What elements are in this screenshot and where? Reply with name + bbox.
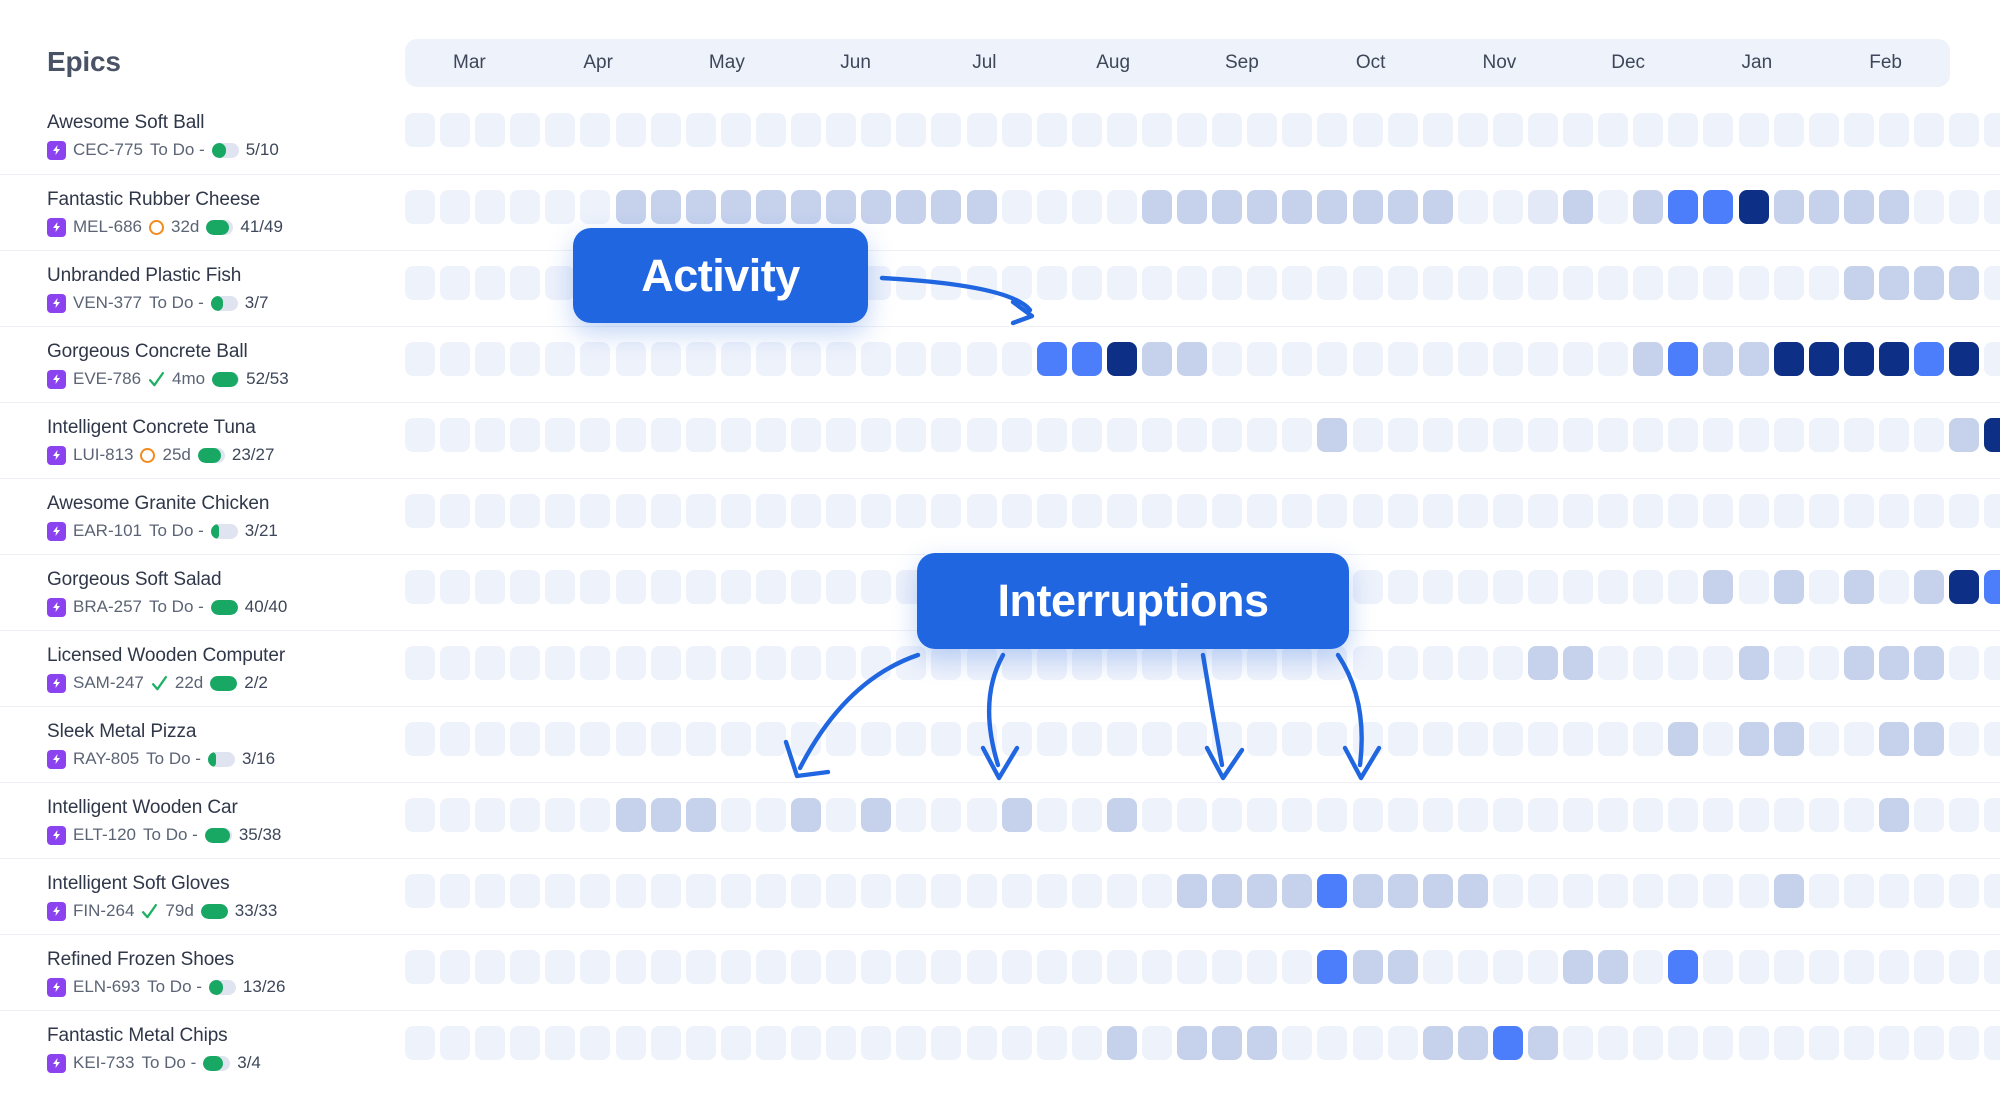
- heatmap-cell[interactable]: [1282, 722, 1312, 756]
- heatmap-cell[interactable]: [861, 418, 891, 452]
- heatmap-cell[interactable]: [1844, 342, 1874, 376]
- heatmap-cell[interactable]: [1247, 646, 1277, 680]
- heatmap-cell[interactable]: [1493, 874, 1523, 908]
- heatmap-cell[interactable]: [1353, 874, 1383, 908]
- heatmap-cell[interactable]: [1809, 1026, 1839, 1060]
- epic-row[interactable]: Unbranded Plastic FishVEN-377To Do -3/7: [0, 250, 404, 326]
- heatmap-cell[interactable]: [896, 266, 926, 300]
- heatmap-cell[interactable]: [405, 342, 435, 376]
- heatmap-cell[interactable]: [1353, 646, 1383, 680]
- epic-row[interactable]: Awesome Granite ChickenEAR-101To Do -3/2…: [0, 478, 404, 554]
- heatmap-cell[interactable]: [1984, 874, 2000, 908]
- heatmap-cell[interactable]: [1037, 494, 1067, 528]
- heatmap-cell[interactable]: [756, 874, 786, 908]
- heatmap-cell[interactable]: [405, 1026, 435, 1060]
- heatmap-cell[interactable]: [1107, 950, 1137, 984]
- heatmap-cell[interactable]: [1353, 494, 1383, 528]
- heatmap-cell[interactable]: [1598, 190, 1628, 224]
- heatmap-cell[interactable]: [1528, 113, 1558, 147]
- heatmap-cell[interactable]: [1423, 342, 1453, 376]
- heatmap-cell[interactable]: [1879, 494, 1909, 528]
- heatmap-cell[interactable]: [1142, 266, 1172, 300]
- heatmap-cell[interactable]: [1142, 418, 1172, 452]
- heatmap-cell[interactable]: [1317, 874, 1347, 908]
- heatmap-cell[interactable]: [1282, 1026, 1312, 1060]
- heatmap-cell[interactable]: [651, 190, 681, 224]
- heatmap-cell[interactable]: [826, 1026, 856, 1060]
- heatmap-cell[interactable]: [651, 798, 681, 832]
- heatmap-cell[interactable]: [756, 950, 786, 984]
- heatmap-cell[interactable]: [1212, 874, 1242, 908]
- heatmap-cell[interactable]: [1177, 418, 1207, 452]
- heatmap-cell[interactable]: [616, 342, 646, 376]
- heatmap-cell[interactable]: [1282, 874, 1312, 908]
- heatmap-cell[interactable]: [1949, 418, 1979, 452]
- heatmap-cell[interactable]: [1388, 1026, 1418, 1060]
- heatmap-cell[interactable]: [1668, 570, 1698, 604]
- heatmap-cell[interactable]: [1247, 722, 1277, 756]
- heatmap-cell[interactable]: [931, 190, 961, 224]
- heatmap-cell[interactable]: [405, 266, 435, 300]
- heatmap-cell[interactable]: [861, 798, 891, 832]
- heatmap-cell[interactable]: [1774, 342, 1804, 376]
- heatmap-cell[interactable]: [1598, 722, 1628, 756]
- heatmap-cell[interactable]: [1949, 646, 1979, 680]
- heatmap-cell[interactable]: [510, 494, 540, 528]
- heatmap-cell[interactable]: [1317, 190, 1347, 224]
- heatmap-cell[interactable]: [1212, 113, 1242, 147]
- heatmap-cell[interactable]: [1212, 722, 1242, 756]
- heatmap-cell[interactable]: [1177, 494, 1207, 528]
- epic-name[interactable]: Intelligent Concrete Tuna: [47, 415, 404, 441]
- heatmap-cell[interactable]: [1317, 722, 1347, 756]
- heatmap-cell[interactable]: [721, 950, 751, 984]
- heatmap-cell[interactable]: [1107, 646, 1137, 680]
- heatmap-cell[interactable]: [1423, 418, 1453, 452]
- heatmap-cell[interactable]: [545, 722, 575, 756]
- heatmap-cell[interactable]: [1598, 113, 1628, 147]
- heatmap-cell[interactable]: [1282, 950, 1312, 984]
- heatmap-cell[interactable]: [791, 874, 821, 908]
- heatmap-cell[interactable]: [1212, 950, 1242, 984]
- heatmap-cell[interactable]: [1703, 190, 1733, 224]
- heatmap-cell[interactable]: [1458, 950, 1488, 984]
- heatmap-cell[interactable]: [1633, 646, 1663, 680]
- heatmap-cell[interactable]: [1598, 418, 1628, 452]
- heatmap-cell[interactable]: [1142, 494, 1172, 528]
- heatmap-cell[interactable]: [861, 190, 891, 224]
- heatmap-cell[interactable]: [1984, 798, 2000, 832]
- heatmap-cell[interactable]: [475, 266, 505, 300]
- heatmap-cell[interactable]: [651, 494, 681, 528]
- heatmap-cell[interactable]: [440, 342, 470, 376]
- heatmap-cell[interactable]: [651, 342, 681, 376]
- heatmap-cell[interactable]: [1984, 950, 2000, 984]
- heatmap-cell[interactable]: [826, 874, 856, 908]
- heatmap-cell[interactable]: [1142, 646, 1172, 680]
- heatmap-cell[interactable]: [1317, 266, 1347, 300]
- heatmap-cell[interactable]: [1703, 646, 1733, 680]
- heatmap-cell[interactable]: [475, 570, 505, 604]
- heatmap-cell[interactable]: [1844, 646, 1874, 680]
- heatmap-cell[interactable]: [1317, 113, 1347, 147]
- heatmap-cell[interactable]: [405, 950, 435, 984]
- heatmap-cell[interactable]: [1037, 342, 1067, 376]
- heatmap-cell[interactable]: [1879, 646, 1909, 680]
- heatmap-cell[interactable]: [1914, 874, 1944, 908]
- heatmap-cell[interactable]: [1703, 950, 1733, 984]
- heatmap-cell[interactable]: [1774, 874, 1804, 908]
- heatmap-cell[interactable]: [791, 113, 821, 147]
- heatmap-cell[interactable]: [1072, 950, 1102, 984]
- heatmap-cell[interactable]: [1072, 113, 1102, 147]
- heatmap-cell[interactable]: [1633, 113, 1663, 147]
- heatmap-cell[interactable]: [1177, 722, 1207, 756]
- heatmap-cell[interactable]: [1177, 798, 1207, 832]
- heatmap-cell[interactable]: [896, 1026, 926, 1060]
- heatmap-cell[interactable]: [1002, 266, 1032, 300]
- heatmap-cell[interactable]: [686, 494, 716, 528]
- heatmap-cell[interactable]: [1493, 418, 1523, 452]
- heatmap-cell[interactable]: [1493, 342, 1523, 376]
- epic-row[interactable]: Gorgeous Soft SaladBRA-257To Do -40/40: [0, 554, 404, 630]
- heatmap-cell[interactable]: [1809, 646, 1839, 680]
- epic-row[interactable]: Fantastic Rubber CheeseMEL-68632d41/49: [0, 174, 404, 250]
- heatmap-cell[interactable]: [1177, 266, 1207, 300]
- epic-row[interactable]: Intelligent Concrete TunaLUI-81325d23/27: [0, 402, 404, 478]
- heatmap-cell[interactable]: [1739, 190, 1769, 224]
- heatmap-cell[interactable]: [1633, 266, 1663, 300]
- heatmap-cell[interactable]: [440, 570, 470, 604]
- epic-key[interactable]: KEI-733: [73, 1052, 134, 1074]
- heatmap-cell[interactable]: [896, 418, 926, 452]
- heatmap-cell[interactable]: [475, 190, 505, 224]
- heatmap-cell[interactable]: [1282, 646, 1312, 680]
- heatmap-cell[interactable]: [1002, 874, 1032, 908]
- heatmap-cell[interactable]: [1844, 570, 1874, 604]
- epic-row[interactable]: Licensed Wooden ComputerSAM-24722d2/2: [0, 630, 404, 706]
- heatmap-cell[interactable]: [580, 342, 610, 376]
- heatmap-cell[interactable]: [1002, 113, 1032, 147]
- heatmap-cell[interactable]: [1879, 266, 1909, 300]
- heatmap-cell[interactable]: [1388, 874, 1418, 908]
- epic-row[interactable]: Refined Frozen ShoesELN-693To Do -13/26: [0, 934, 404, 1010]
- heatmap-cell[interactable]: [580, 113, 610, 147]
- heatmap-cell[interactable]: [510, 798, 540, 832]
- heatmap-cell[interactable]: [545, 646, 575, 680]
- heatmap-cell[interactable]: [1914, 570, 1944, 604]
- heatmap-cell[interactable]: [896, 874, 926, 908]
- heatmap-cell[interactable]: [1388, 798, 1418, 832]
- heatmap-cell[interactable]: [826, 342, 856, 376]
- heatmap-cell[interactable]: [686, 646, 716, 680]
- heatmap-cell[interactable]: [686, 342, 716, 376]
- heatmap-cell[interactable]: [967, 113, 997, 147]
- heatmap-cell[interactable]: [1809, 342, 1839, 376]
- heatmap-cell[interactable]: [1493, 113, 1523, 147]
- heatmap-cell[interactable]: [1037, 1026, 1067, 1060]
- heatmap-cell[interactable]: [931, 113, 961, 147]
- heatmap-cell[interactable]: [1493, 190, 1523, 224]
- heatmap-cell[interactable]: [1072, 874, 1102, 908]
- heatmap-cell[interactable]: [651, 113, 681, 147]
- heatmap-cell[interactable]: [1774, 570, 1804, 604]
- heatmap-cell[interactable]: [1493, 266, 1523, 300]
- heatmap-cell[interactable]: [1317, 798, 1347, 832]
- heatmap-cell[interactable]: [1598, 266, 1628, 300]
- heatmap-cell[interactable]: [1423, 950, 1453, 984]
- heatmap-cell[interactable]: [440, 113, 470, 147]
- heatmap-cell[interactable]: [1353, 113, 1383, 147]
- heatmap-cell[interactable]: [510, 190, 540, 224]
- heatmap-cell[interactable]: [1633, 1026, 1663, 1060]
- heatmap-cell[interactable]: [1879, 798, 1909, 832]
- heatmap-cell[interactable]: [1107, 266, 1137, 300]
- epic-row[interactable]: Intelligent Wooden CarELT-120To Do -35/3…: [0, 782, 404, 858]
- heatmap-cell[interactable]: [1458, 874, 1488, 908]
- heatmap-cell[interactable]: [756, 570, 786, 604]
- heatmap-cell[interactable]: [545, 874, 575, 908]
- heatmap-cell[interactable]: [1914, 722, 1944, 756]
- heatmap-cell[interactable]: [1528, 722, 1558, 756]
- heatmap-cell[interactable]: [1072, 342, 1102, 376]
- heatmap-cell[interactable]: [475, 722, 505, 756]
- heatmap-cell[interactable]: [1703, 570, 1733, 604]
- heatmap-cell[interactable]: [1072, 722, 1102, 756]
- heatmap-cell[interactable]: [1247, 113, 1277, 147]
- heatmap-cell[interactable]: [1177, 950, 1207, 984]
- heatmap-cell[interactable]: [861, 494, 891, 528]
- heatmap-cell[interactable]: [1739, 1026, 1769, 1060]
- heatmap-cell[interactable]: [405, 570, 435, 604]
- heatmap-cell[interactable]: [1282, 342, 1312, 376]
- heatmap-cell[interactable]: [440, 494, 470, 528]
- heatmap-cell[interactable]: [510, 342, 540, 376]
- heatmap-cell[interactable]: [580, 646, 610, 680]
- heatmap-cell[interactable]: [580, 1026, 610, 1060]
- heatmap-cell[interactable]: [931, 494, 961, 528]
- heatmap-cell[interactable]: [1458, 190, 1488, 224]
- heatmap-cell[interactable]: [1142, 798, 1172, 832]
- heatmap-cell[interactable]: [1598, 798, 1628, 832]
- heatmap-cell[interactable]: [967, 874, 997, 908]
- heatmap-cell[interactable]: [686, 722, 716, 756]
- heatmap-cell[interactable]: [1353, 1026, 1383, 1060]
- heatmap-cell[interactable]: [1458, 798, 1488, 832]
- heatmap-cell[interactable]: [440, 874, 470, 908]
- heatmap-cell[interactable]: [931, 266, 961, 300]
- heatmap-cell[interactable]: [756, 113, 786, 147]
- epic-row[interactable]: Sleek Metal PizzaRAY-805To Do -3/16: [0, 706, 404, 782]
- heatmap-cell[interactable]: [1844, 950, 1874, 984]
- heatmap-cell[interactable]: [1914, 342, 1944, 376]
- heatmap-cell[interactable]: [1563, 1026, 1593, 1060]
- heatmap-cell[interactable]: [1984, 1026, 2000, 1060]
- heatmap-cell[interactable]: [405, 418, 435, 452]
- heatmap-cell[interactable]: [1914, 646, 1944, 680]
- heatmap-cell[interactable]: [1984, 722, 2000, 756]
- heatmap-cell[interactable]: [1212, 1026, 1242, 1060]
- heatmap-cell[interactable]: [756, 418, 786, 452]
- heatmap-cell[interactable]: [1493, 570, 1523, 604]
- heatmap-cell[interactable]: [826, 113, 856, 147]
- heatmap-cell[interactable]: [1388, 950, 1418, 984]
- heatmap-cell[interactable]: [510, 570, 540, 604]
- heatmap-cell[interactable]: [616, 113, 646, 147]
- heatmap-cell[interactable]: [1353, 418, 1383, 452]
- heatmap-cell[interactable]: [1212, 798, 1242, 832]
- heatmap-cell[interactable]: [1388, 190, 1418, 224]
- heatmap-cell[interactable]: [1177, 1026, 1207, 1060]
- heatmap-cell[interactable]: [651, 950, 681, 984]
- heatmap-cell[interactable]: [1317, 418, 1347, 452]
- heatmap-cell[interactable]: [1633, 342, 1663, 376]
- heatmap-cell[interactable]: [440, 950, 470, 984]
- heatmap-cell[interactable]: [1458, 646, 1488, 680]
- heatmap-cell[interactable]: [931, 874, 961, 908]
- heatmap-cell[interactable]: [1949, 494, 1979, 528]
- heatmap-cell[interactable]: [1563, 798, 1593, 832]
- heatmap-cell[interactable]: [440, 190, 470, 224]
- heatmap-cell[interactable]: [1879, 874, 1909, 908]
- heatmap-cell[interactable]: [791, 798, 821, 832]
- heatmap-cell[interactable]: [1668, 646, 1698, 680]
- heatmap-cell[interactable]: [1879, 1026, 1909, 1060]
- heatmap-cell[interactable]: [931, 950, 961, 984]
- heatmap-cell[interactable]: [1844, 874, 1874, 908]
- heatmap-cell[interactable]: [1633, 798, 1663, 832]
- heatmap-cell[interactable]: [440, 722, 470, 756]
- heatmap-cell[interactable]: [1458, 722, 1488, 756]
- heatmap-cell[interactable]: [756, 1026, 786, 1060]
- heatmap-cell[interactable]: [1177, 646, 1207, 680]
- heatmap-cell[interactable]: [1037, 722, 1067, 756]
- heatmap-cell[interactable]: [1353, 722, 1383, 756]
- heatmap-cell[interactable]: [475, 342, 505, 376]
- heatmap-cell[interactable]: [1914, 494, 1944, 528]
- heatmap-cell[interactable]: [1774, 266, 1804, 300]
- heatmap-cell[interactable]: [1212, 342, 1242, 376]
- heatmap-cell[interactable]: [1458, 418, 1488, 452]
- heatmap-cell[interactable]: [545, 798, 575, 832]
- heatmap-cell[interactable]: [1353, 570, 1383, 604]
- heatmap-cell[interactable]: [1072, 418, 1102, 452]
- heatmap-cell[interactable]: [686, 570, 716, 604]
- heatmap-cell[interactable]: [686, 950, 716, 984]
- epic-key[interactable]: EAR-101: [73, 520, 142, 542]
- heatmap-cell[interactable]: [1142, 1026, 1172, 1060]
- heatmap-cell[interactable]: [1388, 570, 1418, 604]
- heatmap-cell[interactable]: [1703, 722, 1733, 756]
- heatmap-cell[interactable]: [1668, 722, 1698, 756]
- heatmap-cell[interactable]: [1844, 1026, 1874, 1060]
- heatmap-cell[interactable]: [896, 113, 926, 147]
- heatmap-cell[interactable]: [1247, 266, 1277, 300]
- heatmap-cell[interactable]: [1528, 266, 1558, 300]
- heatmap-cell[interactable]: [1282, 418, 1312, 452]
- heatmap-cell[interactable]: [1844, 722, 1874, 756]
- heatmap-cell[interactable]: [1388, 494, 1418, 528]
- heatmap-cell[interactable]: [1458, 342, 1488, 376]
- heatmap-cell[interactable]: [1142, 113, 1172, 147]
- heatmap-cell[interactable]: [1633, 950, 1663, 984]
- heatmap-cell[interactable]: [1914, 798, 1944, 832]
- heatmap-cell[interactable]: [1282, 190, 1312, 224]
- heatmap-cell[interactable]: [1844, 190, 1874, 224]
- epic-name[interactable]: Awesome Granite Chicken: [47, 491, 404, 517]
- heatmap-cell[interactable]: [510, 646, 540, 680]
- heatmap-cell[interactable]: [405, 113, 435, 147]
- heatmap-cell[interactable]: [1247, 418, 1277, 452]
- heatmap-cell[interactable]: [931, 722, 961, 756]
- heatmap-cell[interactable]: [1072, 190, 1102, 224]
- heatmap-cell[interactable]: [545, 113, 575, 147]
- heatmap-cell[interactable]: [580, 950, 610, 984]
- heatmap-cell[interactable]: [826, 570, 856, 604]
- heatmap-cell[interactable]: [1037, 190, 1067, 224]
- heatmap-cell[interactable]: [826, 722, 856, 756]
- heatmap-cell[interactable]: [1528, 1026, 1558, 1060]
- heatmap-cell[interactable]: [1703, 874, 1733, 908]
- heatmap-cell[interactable]: [967, 950, 997, 984]
- heatmap-cell[interactable]: [721, 190, 751, 224]
- heatmap-cell[interactable]: [510, 950, 540, 984]
- heatmap-cell[interactable]: [756, 646, 786, 680]
- heatmap-cell[interactable]: [1739, 950, 1769, 984]
- heatmap-cell[interactable]: [896, 798, 926, 832]
- heatmap-cell[interactable]: [1353, 190, 1383, 224]
- heatmap-cell[interactable]: [1528, 190, 1558, 224]
- epic-key[interactable]: ELN-693: [73, 976, 140, 998]
- heatmap-cell[interactable]: [1282, 113, 1312, 147]
- heatmap-cell[interactable]: [1633, 494, 1663, 528]
- heatmap-cell[interactable]: [545, 190, 575, 224]
- heatmap-cell[interactable]: [1949, 113, 1979, 147]
- heatmap-cell[interactable]: [1423, 874, 1453, 908]
- heatmap-cell[interactable]: [1668, 190, 1698, 224]
- heatmap-cell[interactable]: [896, 722, 926, 756]
- epic-row[interactable]: Awesome Soft BallCEC-775To Do -5/10: [0, 98, 404, 174]
- heatmap-cell[interactable]: [1493, 494, 1523, 528]
- heatmap-cell[interactable]: [1774, 418, 1804, 452]
- heatmap-cell[interactable]: [1528, 646, 1558, 680]
- heatmap-cell[interactable]: [826, 494, 856, 528]
- heatmap-cell[interactable]: [440, 266, 470, 300]
- heatmap-cell[interactable]: [1668, 113, 1698, 147]
- epic-name[interactable]: Fantastic Rubber Cheese: [47, 187, 404, 213]
- epic-key[interactable]: SAM-247: [73, 672, 144, 694]
- heatmap-cell[interactable]: [1844, 418, 1874, 452]
- heatmap-cell[interactable]: [1949, 1026, 1979, 1060]
- heatmap-cell[interactable]: [1563, 266, 1593, 300]
- heatmap-cell[interactable]: [1528, 418, 1558, 452]
- heatmap-cell[interactable]: [756, 342, 786, 376]
- heatmap-cell[interactable]: [1423, 494, 1453, 528]
- heatmap-cell[interactable]: [861, 570, 891, 604]
- heatmap-cell[interactable]: [475, 418, 505, 452]
- heatmap-cell[interactable]: [721, 874, 751, 908]
- heatmap-cell[interactable]: [931, 1026, 961, 1060]
- heatmap-cell[interactable]: [1844, 798, 1874, 832]
- heatmap-cell[interactable]: [1739, 874, 1769, 908]
- heatmap-cell[interactable]: [1774, 190, 1804, 224]
- heatmap-cell[interactable]: [791, 190, 821, 224]
- heatmap-cell[interactable]: [1353, 342, 1383, 376]
- heatmap-cell[interactable]: [791, 950, 821, 984]
- heatmap-cell[interactable]: [1212, 190, 1242, 224]
- heatmap-cell[interactable]: [405, 798, 435, 832]
- heatmap-cell[interactable]: [1563, 570, 1593, 604]
